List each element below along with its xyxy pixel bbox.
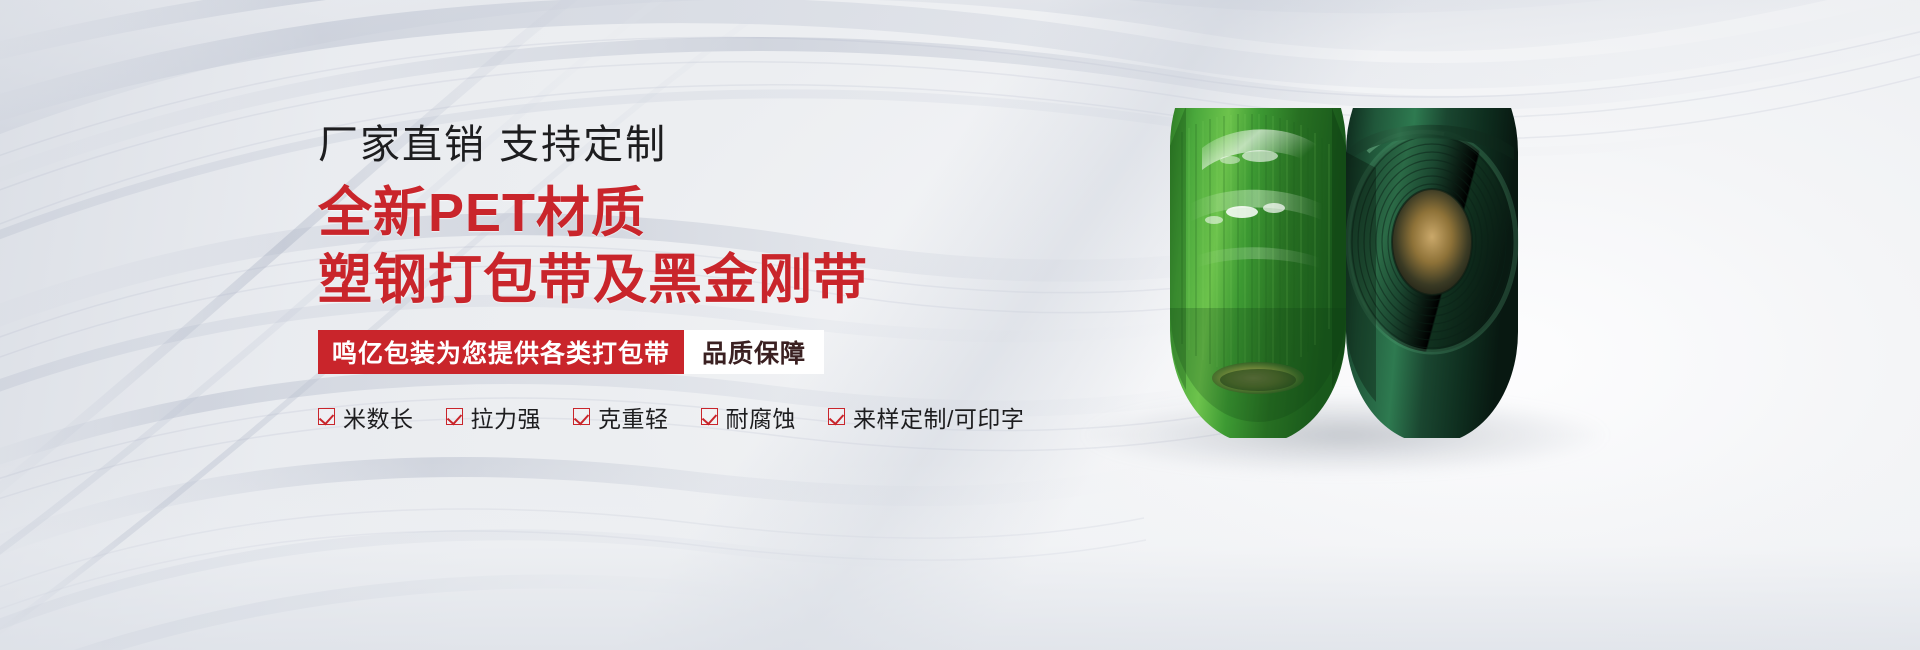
banner-kicker: 厂家直销 支持定制 — [318, 120, 1078, 170]
banner-quality-badge: 品质保障 — [684, 330, 824, 374]
feature-list: 米数长 拉力强 克重轻 耐腐蚀 来样定制/可印字 — [318, 400, 1078, 434]
feature-label: 克重轻 — [598, 400, 669, 434]
pet-strapping-coils-photo — [1110, 108, 1580, 438]
banner-headline-line1: 全新PET材质 — [318, 180, 1078, 247]
checkbox-checked-icon — [828, 408, 845, 425]
feature-item: 拉力强 — [446, 400, 542, 434]
feature-item: 耐腐蚀 — [701, 400, 797, 434]
feature-label: 米数长 — [343, 400, 414, 434]
checkbox-checked-icon — [701, 408, 718, 425]
banner-copy-block: 厂家直销 支持定制 全新PET材质 塑钢打包带及黑金刚带 鸣亿包装为您提供各类打… — [318, 120, 1078, 434]
banner-headline-line2: 塑钢打包带及黑金刚带 — [318, 247, 1078, 314]
feature-item: 克重轻 — [573, 400, 669, 434]
checkbox-checked-icon — [446, 408, 463, 425]
checkbox-checked-icon — [573, 408, 590, 425]
checkbox-checked-icon — [318, 408, 335, 425]
black-diamond-strapping-coil — [1346, 108, 1518, 438]
feature-item: 米数长 — [318, 400, 414, 434]
feature-label: 来样定制/可印字 — [853, 400, 1024, 434]
banner-subbar: 鸣亿包装为您提供各类打包带 品质保障 — [318, 330, 793, 374]
promo-banner: 厂家直销 支持定制 全新PET材质 塑钢打包带及黑金刚带 鸣亿包装为您提供各类打… — [0, 0, 1920, 650]
feature-label: 耐腐蚀 — [726, 400, 797, 434]
banner-subbar-red-text: 鸣亿包装为您提供各类打包带 — [318, 330, 684, 374]
green-pet-strapping-coil — [1134, 108, 1346, 438]
feature-label: 拉力强 — [471, 400, 542, 434]
feature-item: 来样定制/可印字 — [828, 400, 1024, 434]
